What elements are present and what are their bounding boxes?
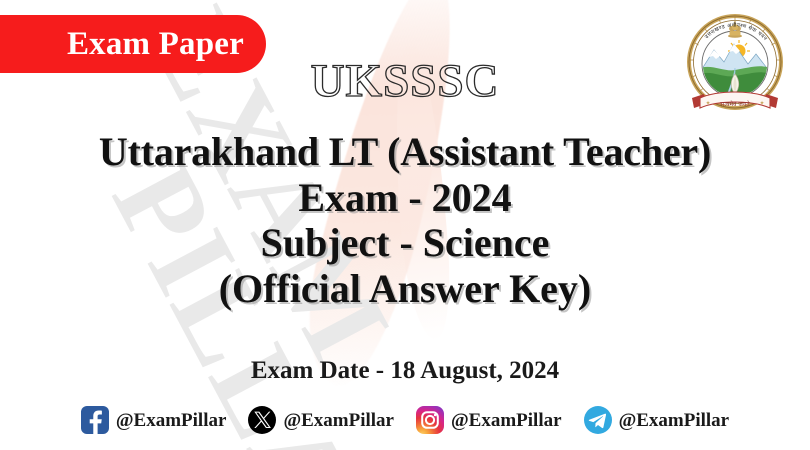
- title-block: Uttarakhand LT (Assistant Teacher) Exam …: [0, 131, 810, 309]
- instagram-handle[interactable]: @ExamPillar: [451, 411, 562, 430]
- exam-date: Exam Date - 18 August, 2024: [0, 358, 810, 383]
- instagram-icon[interactable]: [416, 406, 444, 434]
- facebook-handle[interactable]: @ExamPillar: [116, 411, 227, 430]
- title-line-exam-name: Uttarakhand LT (Assistant Teacher): [0, 131, 810, 173]
- exam-paper-cover: EXAM PILLAR Exam Paper: [0, 0, 810, 450]
- exam-paper-badge: Exam Paper: [0, 15, 266, 73]
- title-line-exam-year: Exam - 2024: [0, 177, 810, 219]
- x-handle[interactable]: @ExamPillar: [283, 411, 394, 430]
- social-item-x[interactable]: @ExamPillar: [248, 406, 394, 434]
- exam-paper-badge-label: Exam Paper: [67, 28, 244, 61]
- x-twitter-icon[interactable]: [248, 406, 276, 434]
- social-item-facebook[interactable]: @ExamPillar: [81, 406, 227, 434]
- svg-text:सत्यमेव जयते: सत्यमेव जयते: [720, 100, 750, 108]
- social-item-instagram[interactable]: @ExamPillar: [416, 406, 562, 434]
- social-links-bar: @ExamPillar @ExamPillar @ExamPillar: [0, 400, 810, 440]
- social-item-telegram[interactable]: @ExamPillar: [584, 406, 730, 434]
- telegram-handle[interactable]: @ExamPillar: [619, 411, 730, 430]
- svg-text:✦: ✦: [759, 100, 764, 107]
- facebook-icon[interactable]: [81, 406, 109, 434]
- title-line-answer-key: (Official Answer Key): [0, 268, 810, 310]
- ukssscc-emblem: उत्तराखण्ड अधीनस्थ सेवा चयन आयोग सत्यमेव…: [682, 10, 788, 120]
- svg-text:✦: ✦: [705, 100, 710, 107]
- telegram-icon[interactable]: [584, 406, 612, 434]
- title-line-subject: Subject - Science: [0, 222, 810, 264]
